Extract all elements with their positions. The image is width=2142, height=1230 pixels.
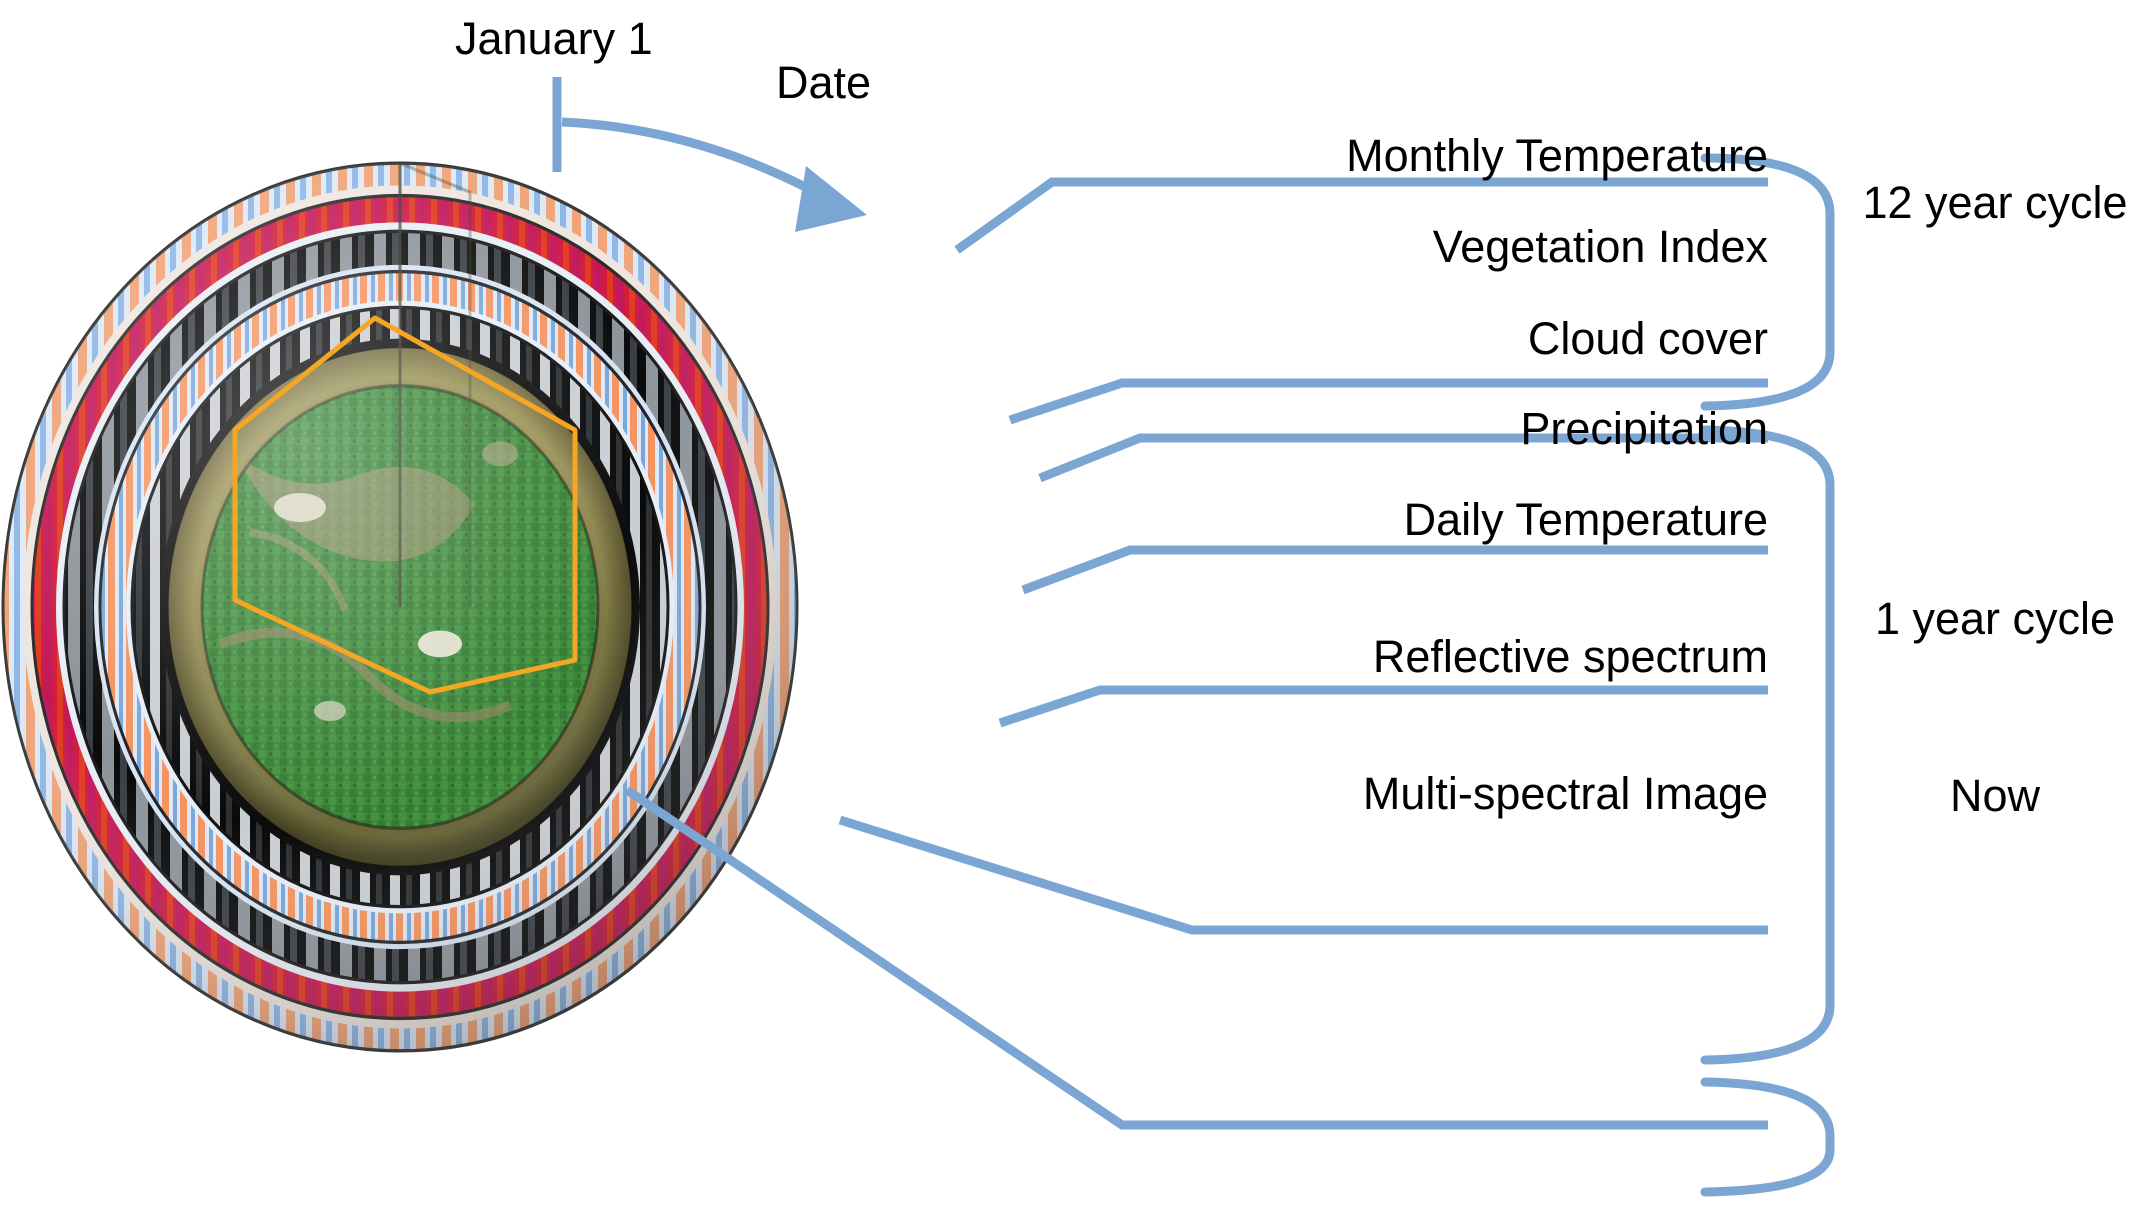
leader-daily-temperature xyxy=(1000,690,1768,723)
label-january-1: January 1 xyxy=(455,16,653,61)
label-monthly-temperature: Monthly Temperature xyxy=(868,133,1768,178)
diagram-canvas: January 1 Date Monthly Temperature Veget… xyxy=(0,0,2142,1230)
leader-precipitation xyxy=(1023,550,1768,590)
label-daily-temperature: Daily Temperature xyxy=(868,497,1768,542)
label-bracket-1-year: 1 year cycle xyxy=(1850,596,2140,641)
date-arrow-curve xyxy=(562,122,830,200)
label-cloud-cover: Cloud cover xyxy=(868,316,1768,361)
label-bracket-12-year: 12 year cycle xyxy=(1850,180,2140,225)
bracket-12-year xyxy=(1705,158,1830,406)
label-multi-spectral-image: Multi-spectral Image xyxy=(868,771,1768,816)
label-reflective-spectrum: Reflective spectrum xyxy=(868,634,1768,679)
callout-layer xyxy=(0,0,2142,1230)
date-arrowhead xyxy=(795,166,867,232)
leader-reflective-spectrum xyxy=(840,820,1768,930)
label-precipitation: Precipitation xyxy=(868,406,1768,451)
leader-multi-spectral-image xyxy=(627,790,1768,1125)
bracket-now xyxy=(1705,1082,1830,1192)
label-vegetation-index: Vegetation Index xyxy=(868,224,1768,269)
label-bracket-now: Now xyxy=(1850,773,2140,818)
label-date: Date xyxy=(776,60,871,105)
